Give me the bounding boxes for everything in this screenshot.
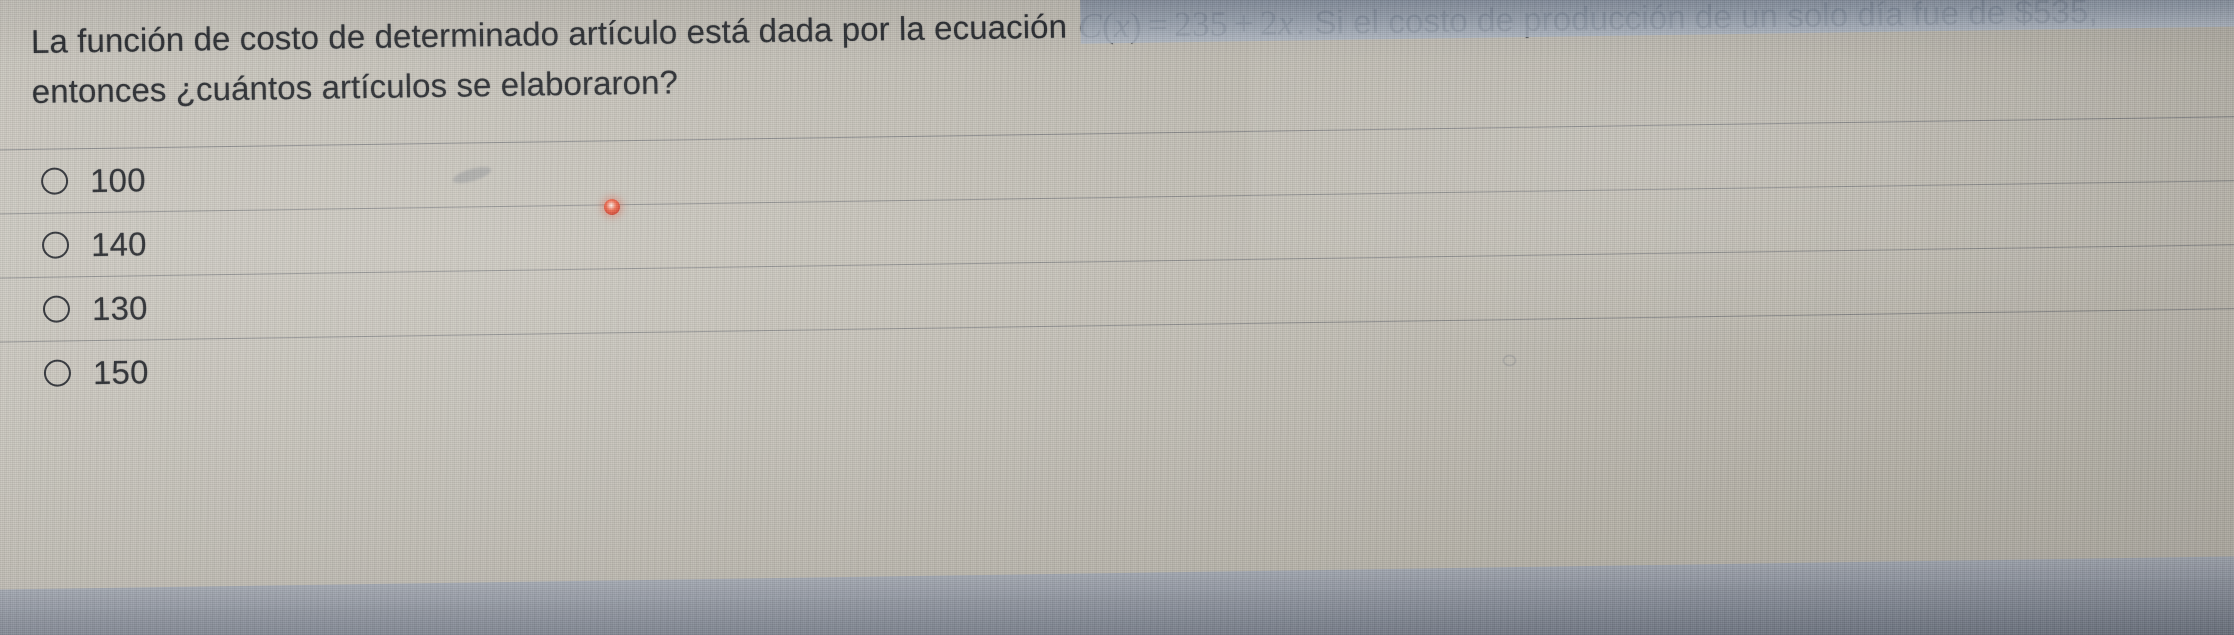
radio-button-icon[interactable] [41, 167, 68, 194]
content-plane: La función de costo de determinado artíc… [0, 0, 2234, 635]
laser-pointer-dot [604, 199, 620, 215]
question-text-part1: La función de costo de determinado artíc… [31, 8, 1068, 60]
radio-button-icon[interactable] [42, 231, 69, 258]
answer-options-list: 100 140 130 150 [0, 116, 2234, 406]
radio-button-icon[interactable] [43, 295, 70, 322]
option-label-1: 100 [90, 161, 146, 200]
option-label-4: 150 [93, 353, 149, 392]
radio-button-icon[interactable] [44, 359, 71, 386]
screen-smudge-small [1503, 355, 1516, 366]
screenshot-root: La función de costo de determinado artíc… [0, 0, 2234, 635]
option-label-2: 140 [91, 225, 147, 264]
option-label-3: 130 [92, 289, 148, 328]
